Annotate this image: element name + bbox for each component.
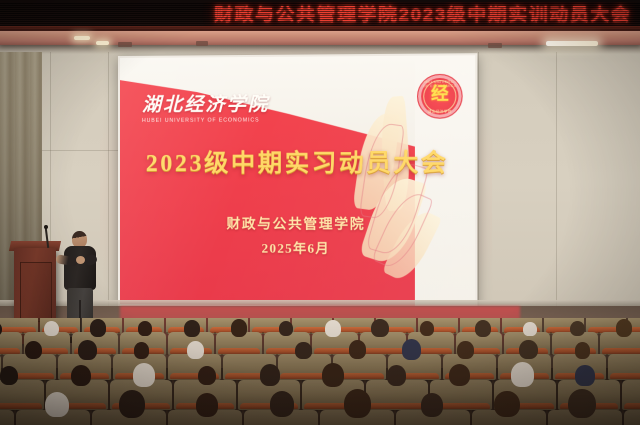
- attendee-head: [184, 320, 199, 336]
- attendee-head: [196, 393, 218, 417]
- speaker-hands: [76, 256, 85, 264]
- attendee-white-cap: [44, 321, 59, 337]
- podium-front-panel: [20, 262, 52, 322]
- attendee-head: [575, 342, 590, 358]
- ceiling-spotlight-2: [96, 41, 109, 45]
- attendee-head: [519, 340, 537, 359]
- attendee-head: [198, 366, 217, 386]
- attendee-head: [295, 342, 311, 359]
- wall-seam-right-edge: [478, 52, 479, 314]
- attendee-head: [475, 320, 491, 337]
- projection-screen: 湖北经济学院 HUBEI UNIVERSITY OF ECONOMICS HUB…: [118, 53, 477, 309]
- attendee-head: [421, 393, 444, 417]
- attendee-head: [449, 364, 470, 386]
- attendee-head: [134, 342, 150, 359]
- attendee-head: [231, 319, 248, 337]
- attendee-dark-cap: [402, 339, 422, 360]
- slide-title: 2023级中期实习动员大会: [120, 149, 475, 178]
- auditorium-seat: [624, 410, 640, 425]
- attendee-head: [371, 319, 388, 337]
- attendee-head: [279, 321, 293, 336]
- attendee-dark-cap: [575, 365, 595, 386]
- seat-trim: [610, 373, 640, 379]
- attendee-white-cap: [511, 362, 534, 386]
- slide-subtitle-organization: 财政与公共管理学院: [120, 216, 475, 233]
- auditorium-seat: [0, 410, 14, 425]
- university-seal-icon: HUBEI UNIVERSITY OF ECONOMICS 经 湖北经济学院: [417, 74, 463, 119]
- university-logo: 湖北经济学院 HUBEI UNIVERSITY OF ECONOMICS: [142, 95, 304, 125]
- attendee-head: [90, 319, 107, 336]
- slide-subtitle-date: 2025年6月: [120, 240, 475, 258]
- attendee-head: [344, 389, 371, 418]
- attendee-white-cap: [187, 341, 204, 359]
- seat-trim: [0, 403, 42, 409]
- attendee-head: [387, 365, 406, 385]
- attendee-head: [25, 341, 42, 359]
- valance-shadow: [0, 45, 640, 54]
- seat-trim: [624, 403, 640, 409]
- university-logo-english: HUBEI UNIVERSITY OF ECONOMICS: [142, 116, 304, 125]
- attendee-head: [260, 364, 281, 386]
- ceiling-tube-light-right: [546, 41, 598, 46]
- attendee-white-cap: [45, 392, 69, 417]
- attendee-head: [71, 365, 91, 386]
- beam-fixture-2: [196, 41, 208, 46]
- attendee-head: [78, 340, 97, 360]
- ceiling-spotlight-1: [74, 36, 90, 40]
- attendee-head: [119, 390, 145, 418]
- attendee-head: [616, 319, 633, 336]
- seal-center-mark: 经: [418, 85, 462, 104]
- university-logo-chinese: 湖北经济学院: [142, 95, 304, 116]
- presentation-slide: 湖北经济学院 HUBEI UNIVERSITY OF ECONOMICS HUB…: [120, 55, 475, 306]
- attendee-head: [0, 366, 18, 385]
- attendee-white-cap: [325, 320, 341, 337]
- attendee-head: [568, 389, 596, 418]
- attendee-white-cap: [133, 363, 155, 386]
- wall-seam-vertical-right: [556, 52, 557, 314]
- led-banner-text: 财政与公共管理学院2023级中期实训动员大会: [214, 6, 606, 26]
- attendee-head: [322, 363, 345, 387]
- microphone-icon: [44, 225, 48, 229]
- attendee-white-cap: [523, 322, 537, 336]
- attendee-head: [138, 321, 152, 336]
- seal-text-bottom: 湖北经济学院: [418, 108, 462, 113]
- attendee-head: [349, 340, 367, 359]
- attendee-head: [570, 321, 585, 337]
- audience-area: [0, 318, 640, 425]
- attendee-head: [494, 391, 519, 418]
- attendee-head: [420, 321, 435, 337]
- beam-fixture-3: [488, 43, 502, 48]
- seat-trim: [368, 403, 426, 409]
- beam-fixture-1: [118, 42, 132, 47]
- auditorium-photo: 财政与公共管理学院2023级中期实训动员大会 湖北经济学院: [0, 0, 640, 425]
- wall-seam-vertical-mid: [108, 52, 109, 314]
- speaker-torso: [64, 246, 96, 290]
- attendee-head: [270, 391, 295, 417]
- attendee-head: [457, 341, 474, 359]
